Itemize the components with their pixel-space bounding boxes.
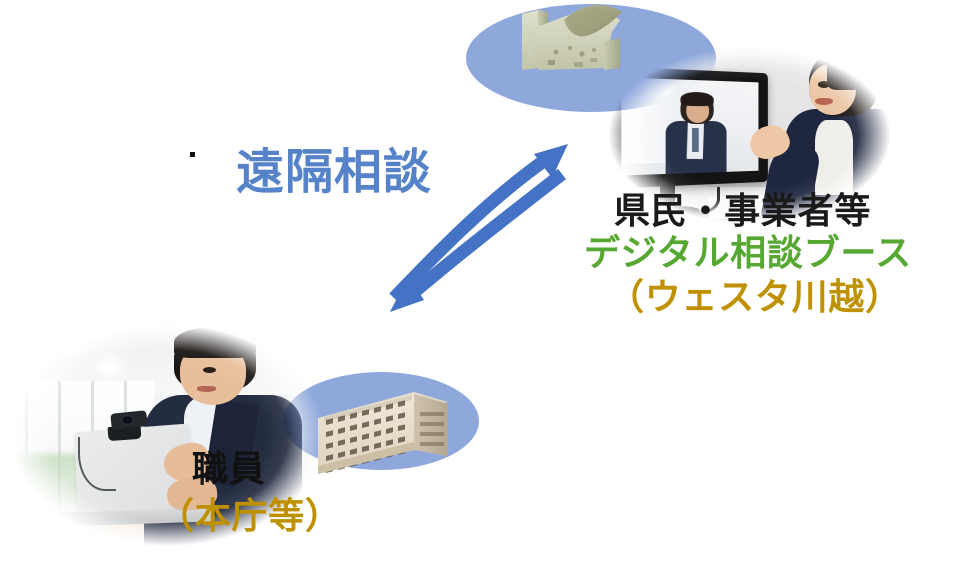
ceiling-light (101, 362, 118, 371)
staff-person-mouth (197, 386, 217, 392)
westa-kawagoe-building-icon (508, 2, 634, 80)
page-title: 遠隔相談 (236, 132, 432, 202)
venue-label: （ウェスタ川越） (608, 268, 902, 320)
citizen-person-eye (818, 81, 830, 88)
monitor-icon (608, 66, 768, 189)
monitor-screen (621, 78, 758, 175)
staff-heading-label: 職員 (192, 440, 265, 492)
screen-person-hair (681, 92, 714, 106)
staff-location-label: （本庁等） (158, 487, 342, 539)
remote-consultation-diagram: 遠隔相談 県民・事業者等 デジタル相談ブース （ウェスタ川越） 職員 （本庁等） (0, 0, 963, 584)
ceiling-light (58, 339, 78, 351)
webcam-lens (121, 415, 134, 425)
screen-ceiling-light (648, 86, 671, 96)
screen-person-tie (692, 128, 699, 152)
staff-person-hair-top (174, 327, 257, 357)
prefectural-office-building-icon (310, 384, 454, 482)
stray-dot-artifact (190, 152, 195, 157)
